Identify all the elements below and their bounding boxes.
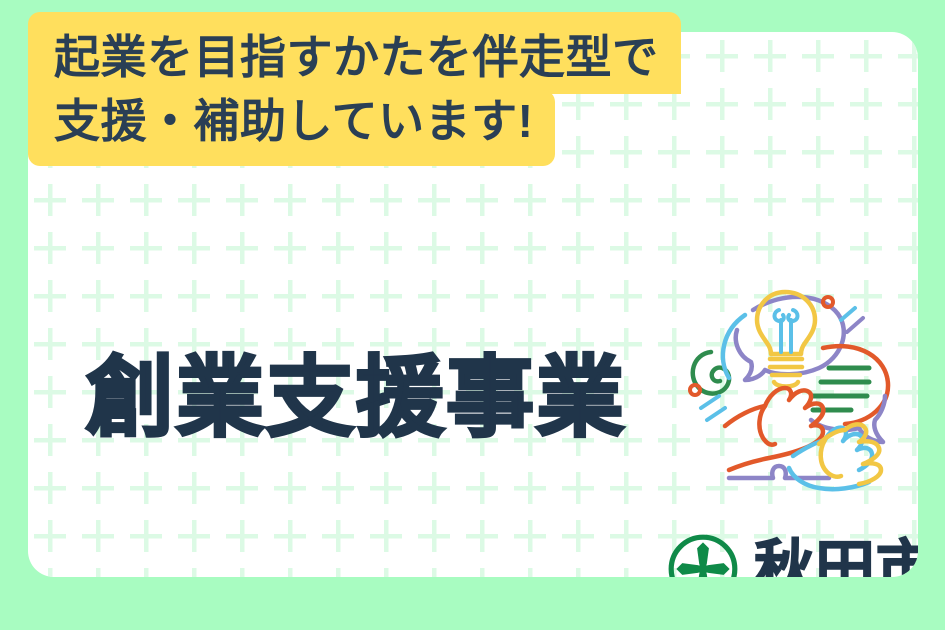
city-logo: 秋田市 <box>666 532 918 577</box>
page-title: 創業支援事業 <box>86 354 626 442</box>
idea-collaboration-illustration <box>673 280 918 510</box>
headline-row-2: 支援・補助しています! <box>28 94 681 166</box>
headline-row-1: 起業を目指すかたを伴走型で <box>28 12 681 94</box>
headline-block: 起業を目指すかたを伴走型で 支援・補助しています! <box>28 12 681 166</box>
akita-city-emblem-icon <box>666 532 740 577</box>
headline-line-1: 起業を目指すかたを伴走型で <box>28 12 681 94</box>
banner-root: 創業支援事業 <box>0 0 945 630</box>
headline-line-2: 支援・補助しています! <box>28 90 555 166</box>
city-name-label: 秋田市 <box>754 539 918 577</box>
